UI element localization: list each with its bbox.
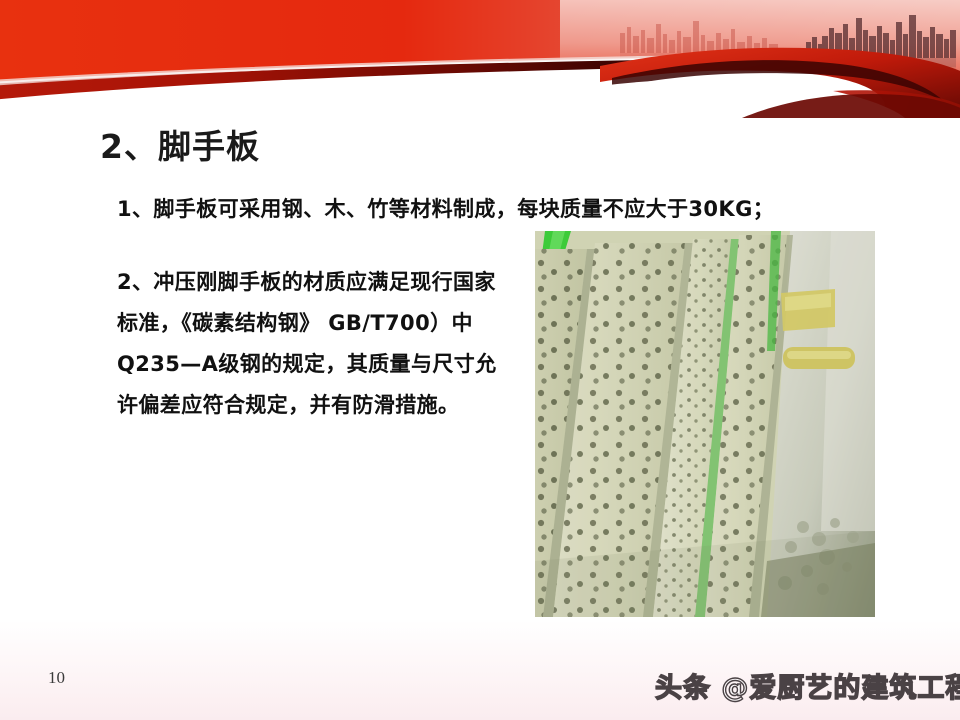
body-paragraph-2-line: 许偏差应符合规定，并有防滑措施。 xyxy=(117,385,517,426)
body-paragraph-2-line: 标准，《碳素结构钢》 GB/T700）中 xyxy=(117,303,517,344)
presentation-slide: 2、脚手板 1、脚手板可采用钢、木、竹等材料制成，每块质量不应大于30KG； 2… xyxy=(0,0,960,720)
header-banner xyxy=(0,0,960,118)
body-paragraph-2-line: Q235—A级钢的规定，其质量与尺寸允 xyxy=(117,344,517,385)
page-number: 10 xyxy=(48,668,65,688)
body-paragraph-1: 1、脚手板可采用钢、木、竹等材料制成，每块质量不应大于30KG； xyxy=(117,193,774,223)
body-paragraph-2-line: 2、冲压刚脚手板的材质应满足现行国家 xyxy=(117,262,517,303)
scaffold-plank-photo xyxy=(535,231,875,617)
body-paragraph-2: 2、冲压刚脚手板的材质应满足现行国家 标准，《碳素结构钢》 GB/T700）中 … xyxy=(117,262,517,426)
page-title: 2、脚手板 xyxy=(100,120,260,168)
watermark: 头条 @爱厨艺的建筑工程师 xyxy=(655,666,960,705)
